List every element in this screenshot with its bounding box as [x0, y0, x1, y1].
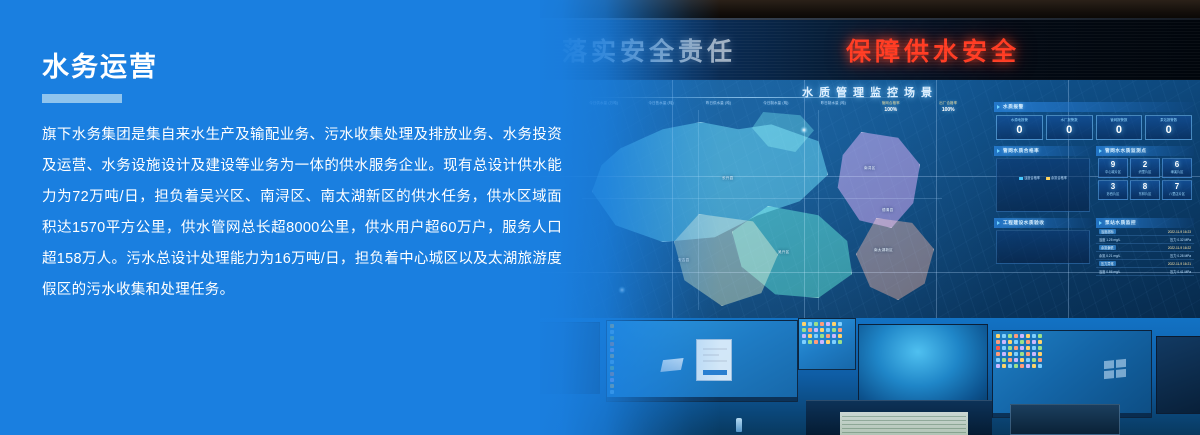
alarm-card-value: 0 — [1146, 123, 1191, 137]
cell-label: 埭溪片区 — [1163, 170, 1191, 175]
cell-value: 8 — [1131, 182, 1159, 192]
alarm-card-row: 水源地报警 0 水厂报警数 0 管网报警数 0 泵站报警数 — [994, 112, 1194, 142]
operator-monitor — [858, 324, 988, 410]
monitor-point-cell: 7 八里店片区 — [1162, 180, 1192, 200]
alarm-log-row: 浊度超标 2022-11-9 16:23 — [1096, 228, 1194, 236]
alarm-log-row: 压力异常 2022-11-9 16:21 — [1096, 260, 1194, 268]
panel-header: 水质报警 — [994, 102, 1194, 112]
page-title: 水务运营 — [42, 50, 562, 84]
cell-label: 八里店片区 — [1163, 192, 1191, 197]
cell-value: 9 — [1099, 160, 1127, 170]
kpi-item: 昨日制水量 (吨) — [806, 100, 861, 106]
monitor-point-cell: 2 织里片区 — [1130, 158, 1160, 178]
legend-entry: 余氯合格率 — [1046, 175, 1067, 180]
monitor-point-cell: 6 埭溪片区 — [1162, 158, 1192, 178]
panel-title: 管网水质合格率 — [1003, 148, 1039, 154]
cell-label: 织里片区 — [1131, 170, 1159, 175]
chevron-right-icon — [1099, 221, 1102, 225]
paper-document — [840, 412, 968, 435]
alarm-card: 水厂报警数 0 — [1046, 115, 1093, 140]
operator-monitor — [798, 318, 856, 370]
title-underline-bar — [42, 94, 122, 103]
cell-value: 2 — [1131, 160, 1159, 170]
panel-network-quality-rate: 管网水质合格率 浊度合格率 余氯合格率 — [994, 146, 1092, 214]
chevron-right-icon — [997, 221, 1000, 225]
alarm-card: 管网报警数 0 — [1096, 115, 1143, 140]
rate-chart: 浊度合格率 余氯合格率 — [996, 158, 1090, 212]
alarm-log-row: 浊度 1.25 mg/L 压力 0.32 MPa — [1096, 236, 1194, 244]
alarm-card: 泵站报警数 0 — [1145, 115, 1192, 140]
map-glow-marker — [800, 126, 808, 134]
map-label: 吴兴区 — [778, 250, 789, 255]
cell-value: 3 — [1099, 182, 1127, 192]
chevron-right-icon — [997, 149, 1000, 153]
log-metric: 余氯 0.21 mg/L — [1099, 253, 1120, 258]
monitor-point-cell: 3 妙西片区 — [1098, 180, 1128, 200]
dashboard-panel-column: 水质报警 水源地报警 0 水厂报警数 0 管网报警数 0 — [994, 102, 1194, 280]
text-block: 水务运营 旗下水务集团是集自来水生产及输配业务、污水收集处理及排放业务、水务投资… — [42, 50, 562, 306]
body-paragraph: 旗下水务集团是集自来水生产及输配业务、污水收集处理及排放业务、水务投资及运营、水… — [42, 120, 562, 306]
alarm-log-row: 余氯偏低 2022-11-9 16:22 — [1096, 244, 1194, 252]
cell-value: 6 — [1163, 160, 1191, 170]
log-pressure: 压力 0.41 MPa — [1170, 269, 1191, 274]
panel-network-monitor-points: 管网水水质监测点 9 中心城片区 2 织里片区 — [1096, 146, 1194, 214]
map-region-brown — [856, 218, 934, 300]
alarm-log-row: 浊度 0.86 mg/L 压力 0.41 MPa — [1096, 268, 1194, 276]
log-metric: 浊度 0.86 mg/L — [1099, 269, 1120, 274]
log-pressure: 压力 0.28 MPa — [1170, 253, 1191, 258]
alarm-card-value: 0 — [1097, 123, 1142, 137]
panel-title: 泵站水质监控 — [1105, 220, 1136, 226]
log-time: 2022-11-9 16:22 — [1168, 246, 1191, 250]
kpi-label: 出厂合格率 — [921, 100, 976, 106]
cell-value: 7 — [1163, 182, 1191, 192]
kpi-label: 今日制水量 (吨) — [748, 100, 803, 106]
operator-monitor — [1156, 336, 1200, 414]
water-operations-banner: 落实安全责任 保障供水安全 水质管理监控场景 今日供水量 (万吨) 今日售水量 … — [0, 0, 1200, 435]
kpi-label: 管网合格率 — [863, 100, 918, 106]
alarm-log-row: 余氯 0.21 mg/L 压力 0.28 MPa — [1096, 252, 1194, 260]
panel-header: 管网水质合格率 — [994, 146, 1092, 156]
log-tag: 压力异常 — [1099, 261, 1116, 266]
cell-label: 妙西片区 — [1099, 192, 1127, 197]
log-tag: 余氯偏低 — [1099, 245, 1116, 250]
cell-label: 东林片区 — [1131, 192, 1159, 197]
monitor-point-grid: 9 中心城片区 2 织里片区 6 埭溪片区 — [1096, 156, 1194, 202]
panel-header: 工程建设水质验收 — [994, 218, 1092, 228]
panel-split-row-lower: 工程建设水质验收 泵站水质监控 浊度超标 2022-11-9 16:23 — [994, 218, 1194, 280]
panel-construction-acceptance: 工程建设水质验收 — [994, 218, 1092, 276]
chevron-right-icon — [997, 105, 1000, 109]
laptop — [1010, 404, 1120, 435]
legend-entry: 浊度合格率 — [1019, 175, 1040, 180]
alarm-card-value: 0 — [1047, 123, 1092, 137]
kpi-label: 昨日制水量 (吨) — [806, 100, 861, 106]
map-label: 长兴县 — [722, 176, 733, 181]
map-region-purple — [836, 132, 920, 228]
log-tag: 浊度超标 — [1099, 229, 1116, 234]
cell-label: 中心城片区 — [1099, 170, 1127, 175]
slogan-right: 保障供水安全 — [846, 32, 1020, 68]
log-metric: 浊度 1.25 mg/L — [1099, 237, 1120, 242]
map-label: 南太湖新区 — [874, 248, 893, 253]
panel-title: 管网水水质监测点 — [1105, 148, 1147, 154]
map-label: 南浔区 — [864, 166, 875, 171]
acceptance-chart — [996, 230, 1090, 264]
log-time: 2022-11-9 16:21 — [1168, 262, 1191, 266]
desktop-icon-grid — [802, 322, 842, 344]
windows-logo-icon — [1104, 359, 1126, 379]
panel-title: 水质报警 — [1003, 104, 1024, 110]
alarm-card-value: 0 — [997, 123, 1042, 137]
desktop-icon-grid — [996, 334, 1042, 368]
panel-station-quality-monitor: 泵站水质监控 浊度超标 2022-11-9 16:23 浊度 1.25 mg/L… — [1096, 218, 1194, 276]
map-label: 德清县 — [882, 208, 893, 213]
monitor-point-cell: 9 中心城片区 — [1098, 158, 1128, 178]
kpi-item: 今日制水量 (吨) — [748, 100, 803, 106]
water-bottle — [736, 418, 742, 432]
panel-header: 管网水水质监测点 — [1096, 146, 1194, 156]
alarm-card: 水源地报警 0 — [996, 115, 1043, 140]
panel-title: 工程建设水质验收 — [1003, 220, 1045, 226]
panel-water-quality-alarm: 水质报警 水源地报警 0 水厂报警数 0 管网报警数 0 — [994, 102, 1194, 142]
log-pressure: 压力 0.32 MPa — [1170, 237, 1191, 242]
monitor-point-cell: 8 东林片区 — [1130, 180, 1160, 200]
log-time: 2022-11-9 16:23 — [1168, 230, 1191, 234]
chevron-right-icon — [1099, 149, 1102, 153]
alarm-log-list: 浊度超标 2022-11-9 16:23 浊度 1.25 mg/L 压力 0.3… — [1096, 228, 1194, 276]
panel-header: 泵站水质监控 — [1096, 218, 1194, 228]
panel-split-row: 管网水质合格率 浊度合格率 余氯合格率 管网水水质监测点 — [994, 146, 1194, 218]
chart-legend: 浊度合格率 余氯合格率 — [1019, 175, 1067, 180]
